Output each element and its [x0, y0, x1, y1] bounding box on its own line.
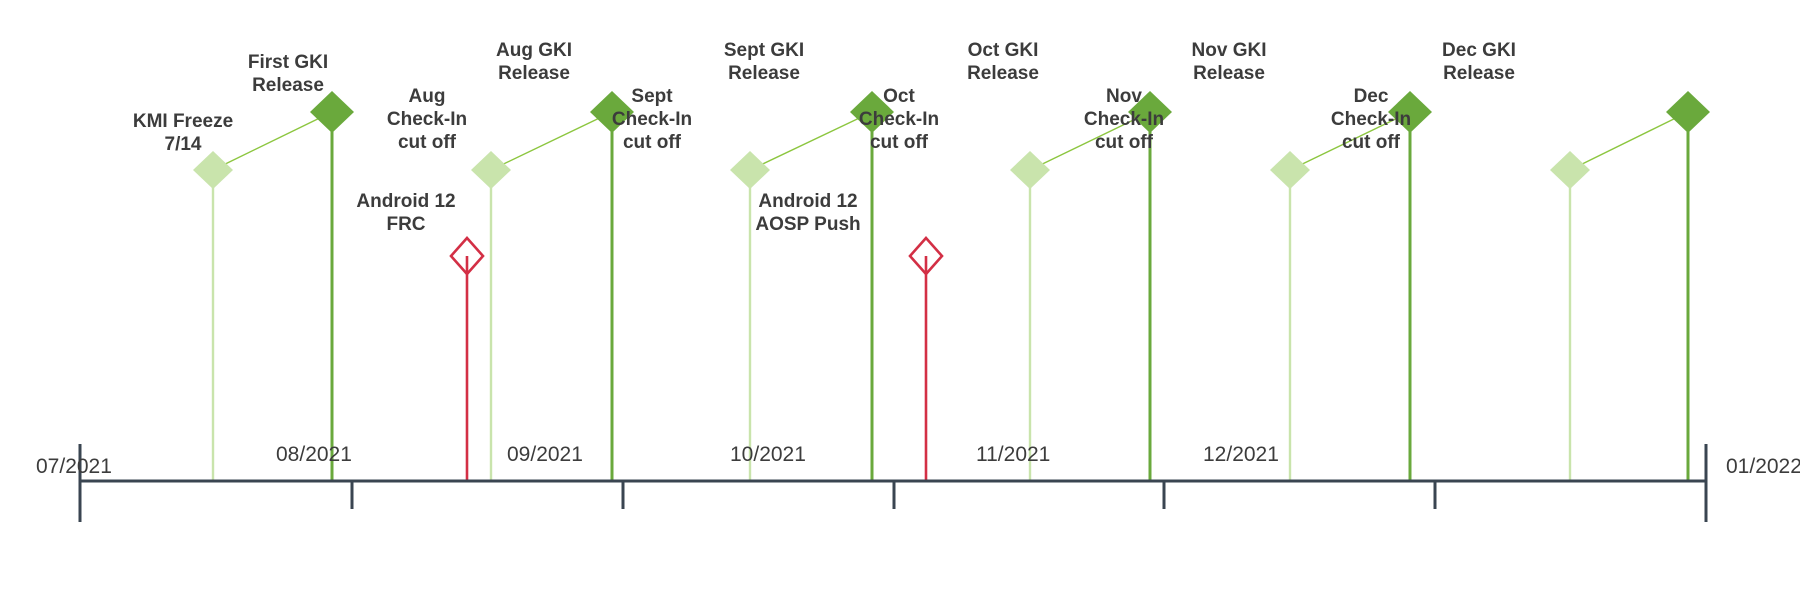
event-connector: [750, 112, 872, 170]
event-label: Aug GKI Release: [496, 39, 572, 85]
event-label: Dec Check-In cut off: [1331, 85, 1411, 154]
diamond-filled-icon[interactable]: [1550, 151, 1590, 189]
event-label: Android 12 AOSP Push: [755, 190, 860, 236]
event-label: Sept GKI Release: [724, 39, 804, 85]
event-label: KMI Freeze 7/14: [133, 110, 233, 156]
event-connector: [1570, 112, 1688, 170]
event-label: Oct GKI Release: [967, 39, 1039, 85]
event-label: Nov GKI Release: [1192, 39, 1267, 85]
diamond-filled-icon[interactable]: [1666, 91, 1710, 133]
axis-tick-label: 12/2021: [1203, 443, 1279, 467]
diamond-filled-icon[interactable]: [1270, 151, 1310, 189]
stem-lines: [213, 112, 1688, 481]
axis-tick-label: 08/2021: [276, 443, 352, 467]
diamond-filled-icon[interactable]: [730, 151, 770, 189]
event-label: Dec GKI Release: [1442, 39, 1516, 85]
timeline-diagram: KMI Freeze 7/14First GKI ReleaseAug Chec…: [0, 0, 1800, 602]
event-label: Aug Check-In cut off: [387, 85, 467, 154]
axis-tick-label: 01/2022: [1726, 455, 1800, 479]
axis-tick-label: 07/2021: [36, 455, 112, 479]
event-label: Android 12 FRC: [356, 190, 455, 236]
event-label: First GKI Release: [248, 51, 328, 97]
diamond-filled-icon[interactable]: [471, 151, 511, 189]
axis-tick-label: 11/2021: [976, 443, 1050, 467]
event-connector: [491, 112, 612, 170]
event-label: Nov Check-In cut off: [1084, 85, 1164, 154]
diamond-filled-icon[interactable]: [1010, 151, 1050, 189]
diamond-filled-icon[interactable]: [193, 151, 233, 189]
axis-tick-label: 09/2021: [507, 443, 583, 467]
event-label: Sept Check-In cut off: [612, 85, 692, 154]
diamond-filled-icon[interactable]: [310, 91, 354, 133]
axis-tick-label: 10/2021: [730, 443, 806, 467]
event-label: Oct Check-In cut off: [859, 85, 939, 154]
